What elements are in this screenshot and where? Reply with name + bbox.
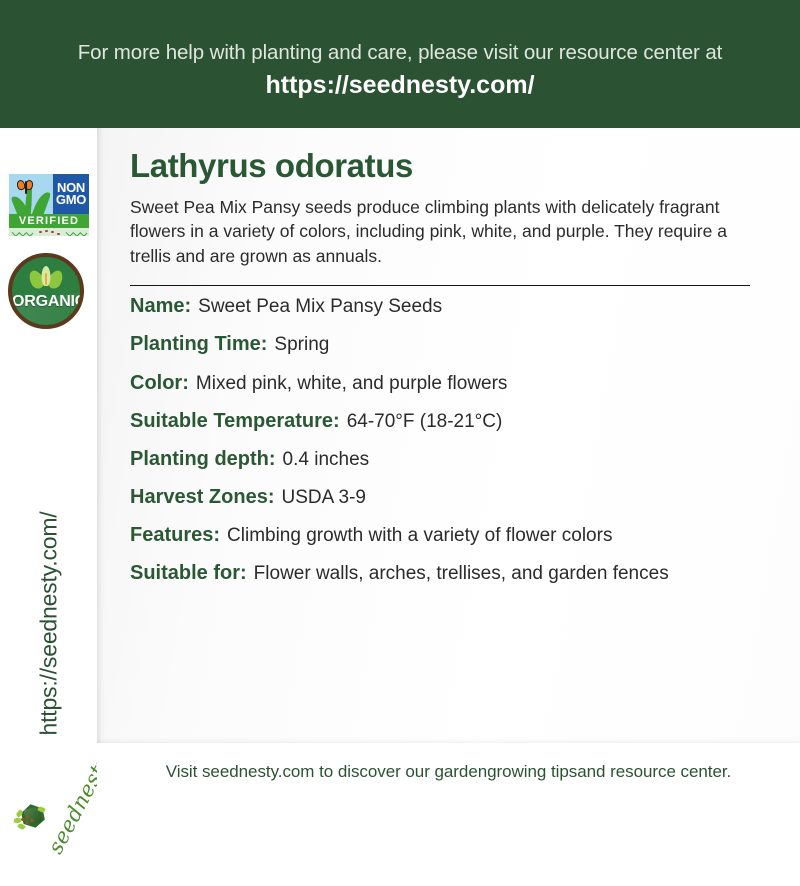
non-gmo-badge-footer-strip bbox=[9, 228, 89, 236]
spec-value: Mixed pink, white, and purple flowers bbox=[196, 372, 750, 396]
specification-list: Name: Sweet Pea Mix Pansy Seeds Planting… bbox=[130, 294, 750, 586]
non-gmo-badge-top: NON GMO bbox=[9, 174, 89, 214]
spec-label: Color: bbox=[130, 371, 189, 397]
non-gmo-verified-badge-icon: NON GMO VERIFIED bbox=[8, 173, 90, 237]
spec-label: Suitable for: bbox=[130, 561, 247, 587]
sidebar: NON GMO VERIFIED ORGANIC bbox=[0, 128, 97, 800]
spec-label: Suitable Temperature: bbox=[130, 409, 340, 435]
spec-value: 0.4 inches bbox=[283, 448, 750, 472]
seed-dot-icon bbox=[51, 231, 54, 233]
spec-label: Features: bbox=[130, 523, 220, 549]
page-title: Lathyrus odoratus bbox=[130, 147, 750, 185]
sidebar-vertical-url[interactable]: https://seednesty.com/ bbox=[0, 473, 97, 773]
non-gmo-verified-label: VERIFIED bbox=[9, 214, 89, 228]
footer-text: Visit seednesty.com to discover our gard… bbox=[166, 762, 731, 782]
spec-label: Planting depth: bbox=[130, 447, 276, 473]
spec-value: Climbing growth with a variety of flower… bbox=[227, 524, 750, 548]
spec-value: Sweet Pea Mix Pansy Seeds bbox=[198, 295, 750, 319]
spec-value: USDA 3-9 bbox=[282, 486, 751, 510]
spec-row-suitable-for: Suitable for: Flower walls, arches, trel… bbox=[130, 561, 750, 587]
chevron-icon bbox=[80, 229, 88, 236]
sidebar-vertical-url-text: https://seednesty.com/ bbox=[35, 511, 62, 735]
spec-value: 64-70°F (18-21°C) bbox=[347, 410, 750, 434]
non-gmo-line2: GMO bbox=[56, 194, 86, 207]
butterfly-icon bbox=[17, 180, 34, 196]
main-content-panel: Lathyrus odoratus Sweet Pea Mix Pansy se… bbox=[97, 128, 800, 743]
spec-label: Harvest Zones: bbox=[130, 485, 275, 511]
seed-icon bbox=[26, 815, 30, 818]
spec-row-suitable-temperature: Suitable Temperature: 64-70°F (18-21°C) bbox=[130, 409, 750, 435]
product-description: Sweet Pea Mix Pansy seeds produce climbi… bbox=[130, 195, 730, 268]
plant-leaf-emblem-icon bbox=[30, 266, 62, 292]
header-help-text: For more help with planting and care, pl… bbox=[78, 41, 722, 66]
seeds-group-icon bbox=[21, 815, 34, 826]
header-website-url[interactable]: https://seednesty.com/ bbox=[265, 69, 534, 103]
spec-row-features: Features: Climbing growth with a variety… bbox=[130, 523, 750, 549]
chevron-icon bbox=[26, 229, 34, 236]
non-gmo-sky-panel bbox=[9, 174, 53, 214]
seed-dot-icon bbox=[45, 230, 48, 232]
seed-icon bbox=[30, 819, 34, 822]
spec-row-planting-time: Planting Time: Spring bbox=[130, 332, 750, 358]
seed-dot-icon bbox=[57, 233, 60, 235]
spec-label: Planting Time: bbox=[130, 332, 267, 358]
seed-icon bbox=[21, 818, 25, 821]
spec-row-name: Name: Sweet Pea Mix Pansy Seeds bbox=[130, 294, 750, 320]
section-divider bbox=[130, 285, 750, 286]
organic-label: ORGANIC bbox=[12, 293, 80, 311]
brand-logo: seednesty bbox=[0, 776, 97, 886]
footer: Visit seednesty.com to discover our gard… bbox=[97, 743, 800, 800]
spec-label: Name: bbox=[130, 294, 191, 320]
seed-icon bbox=[25, 821, 29, 824]
non-gmo-text-block: NON GMO bbox=[53, 174, 89, 214]
organic-seal-icon: ORGANIC bbox=[8, 253, 84, 329]
spec-row-planting-depth: Planting depth: 0.4 inches bbox=[130, 447, 750, 473]
spec-row-color: Color: Mixed pink, white, and purple flo… bbox=[130, 371, 750, 397]
spec-row-harvest-zones: Harvest Zones: USDA 3-9 bbox=[130, 485, 750, 511]
spec-value: Spring bbox=[274, 333, 750, 357]
seed-dot-icon bbox=[39, 231, 42, 233]
spec-value: Flower walls, arches, trellises, and gar… bbox=[254, 562, 724, 585]
butterfly-body bbox=[25, 181, 27, 194]
grass-blade-right-icon bbox=[32, 190, 51, 214]
leaf-stem bbox=[45, 273, 47, 285]
header-banner: For more help with planting and care, pl… bbox=[0, 0, 800, 128]
